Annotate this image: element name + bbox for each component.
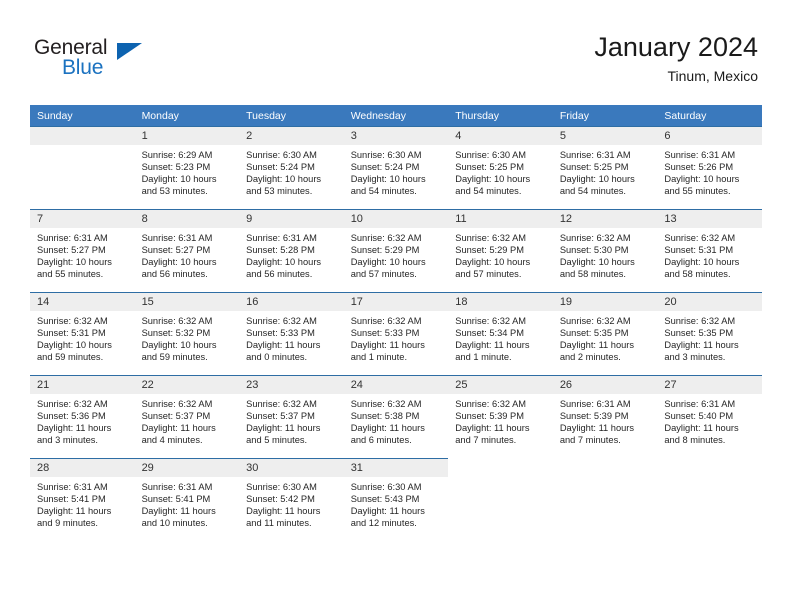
- day-details: Sunrise: 6:29 AMSunset: 5:23 PMDaylight:…: [135, 145, 240, 197]
- sunset-time: Sunset: 5:27 PM: [37, 244, 130, 256]
- daylight-duration-line-1: Daylight: 10 hours: [142, 256, 235, 268]
- sunset-time: Sunset: 5:42 PM: [246, 493, 339, 505]
- calendar-day-cell[interactable]: 25Sunrise: 6:32 AMSunset: 5:39 PMDayligh…: [448, 375, 553, 458]
- daylight-duration-line-2: and 3 minutes.: [37, 434, 130, 446]
- day-cell-inner: 14Sunrise: 6:32 AMSunset: 5:31 PMDayligh…: [30, 292, 135, 375]
- day-details: Sunrise: 6:32 AMSunset: 5:36 PMDaylight:…: [30, 394, 135, 446]
- day-details: Sunrise: 6:30 AMSunset: 5:42 PMDaylight:…: [239, 477, 344, 529]
- sunset-time: Sunset: 5:37 PM: [246, 410, 339, 422]
- day-cell-inner: 19Sunrise: 6:32 AMSunset: 5:35 PMDayligh…: [553, 292, 658, 375]
- day-cell-inner: [657, 458, 762, 541]
- daylight-duration-line-2: and 1 minute.: [351, 351, 444, 363]
- day-cell-inner: 12Sunrise: 6:32 AMSunset: 5:30 PMDayligh…: [553, 209, 658, 292]
- sunset-time: Sunset: 5:32 PM: [142, 327, 235, 339]
- day-number: 21: [30, 376, 135, 394]
- daylight-duration-line-2: and 10 minutes.: [142, 517, 235, 529]
- day-details: Sunrise: 6:30 AMSunset: 5:43 PMDaylight:…: [344, 477, 449, 529]
- calendar-day-cell[interactable]: 5Sunrise: 6:31 AMSunset: 5:25 PMDaylight…: [553, 126, 658, 209]
- calendar-week-row: 14Sunrise: 6:32 AMSunset: 5:31 PMDayligh…: [30, 292, 762, 375]
- day-details: Sunrise: 6:31 AMSunset: 5:27 PMDaylight:…: [135, 228, 240, 280]
- sunset-time: Sunset: 5:27 PM: [142, 244, 235, 256]
- daylight-duration-line-1: Daylight: 10 hours: [142, 173, 235, 185]
- sunrise-time: Sunrise: 6:32 AM: [455, 315, 548, 327]
- sunrise-time: Sunrise: 6:31 AM: [664, 398, 757, 410]
- day-details: Sunrise: 6:32 AMSunset: 5:33 PMDaylight:…: [344, 311, 449, 363]
- day-cell-inner: 22Sunrise: 6:32 AMSunset: 5:37 PMDayligh…: [135, 375, 240, 458]
- sunrise-time: Sunrise: 6:32 AM: [351, 232, 444, 244]
- calendar-day-cell[interactable]: 28Sunrise: 6:31 AMSunset: 5:41 PMDayligh…: [30, 458, 135, 541]
- day-cell-inner: 27Sunrise: 6:31 AMSunset: 5:40 PMDayligh…: [657, 375, 762, 458]
- day-details: [30, 145, 135, 149]
- daylight-duration-line-2: and 54 minutes.: [560, 185, 653, 197]
- sunset-time: Sunset: 5:28 PM: [246, 244, 339, 256]
- day-number: [30, 127, 135, 145]
- day-details: Sunrise: 6:32 AMSunset: 5:35 PMDaylight:…: [657, 311, 762, 363]
- weekday-header-wednesday: Wednesday: [344, 105, 449, 126]
- sunrise-time: Sunrise: 6:32 AM: [455, 232, 548, 244]
- daylight-duration-line-1: Daylight: 11 hours: [37, 422, 130, 434]
- day-details: Sunrise: 6:32 AMSunset: 5:38 PMDaylight:…: [344, 394, 449, 446]
- day-number: 16: [239, 293, 344, 311]
- day-number: 6: [657, 127, 762, 145]
- calendar-day-cell[interactable]: [30, 126, 135, 209]
- sunset-time: Sunset: 5:36 PM: [37, 410, 130, 422]
- day-cell-inner: [448, 458, 553, 541]
- sunset-time: Sunset: 5:39 PM: [455, 410, 548, 422]
- daylight-duration-line-1: Daylight: 10 hours: [246, 173, 339, 185]
- day-number: 25: [448, 376, 553, 394]
- day-cell-inner: 23Sunrise: 6:32 AMSunset: 5:37 PMDayligh…: [239, 375, 344, 458]
- sunrise-time: Sunrise: 6:30 AM: [351, 481, 444, 493]
- calendar-day-cell[interactable]: 23Sunrise: 6:32 AMSunset: 5:37 PMDayligh…: [239, 375, 344, 458]
- logo-text-blue: Blue: [62, 56, 103, 80]
- sunset-time: Sunset: 5:37 PM: [142, 410, 235, 422]
- sunset-time: Sunset: 5:34 PM: [455, 327, 548, 339]
- day-number: 18: [448, 293, 553, 311]
- day-cell-inner: 4Sunrise: 6:30 AMSunset: 5:25 PMDaylight…: [448, 126, 553, 209]
- sunrise-time: Sunrise: 6:32 AM: [142, 398, 235, 410]
- sunrise-time: Sunrise: 6:32 AM: [664, 232, 757, 244]
- day-number: 31: [344, 459, 449, 477]
- sunset-time: Sunset: 5:25 PM: [560, 161, 653, 173]
- daylight-duration-line-1: Daylight: 11 hours: [246, 339, 339, 351]
- calendar-day-cell[interactable]: 24Sunrise: 6:32 AMSunset: 5:38 PMDayligh…: [344, 375, 449, 458]
- day-cell-inner: 20Sunrise: 6:32 AMSunset: 5:35 PMDayligh…: [657, 292, 762, 375]
- sunset-time: Sunset: 5:29 PM: [351, 244, 444, 256]
- day-number: 4: [448, 127, 553, 145]
- day-number: 1: [135, 127, 240, 145]
- day-details: Sunrise: 6:30 AMSunset: 5:25 PMDaylight:…: [448, 145, 553, 197]
- day-details: Sunrise: 6:31 AMSunset: 5:28 PMDaylight:…: [239, 228, 344, 280]
- day-details: Sunrise: 6:31 AMSunset: 5:25 PMDaylight:…: [553, 145, 658, 197]
- day-number: 14: [30, 293, 135, 311]
- day-details: Sunrise: 6:32 AMSunset: 5:35 PMDaylight:…: [553, 311, 658, 363]
- day-cell-inner: 10Sunrise: 6:32 AMSunset: 5:29 PMDayligh…: [344, 209, 449, 292]
- daylight-duration-line-1: Daylight: 11 hours: [455, 422, 548, 434]
- weekday-header-saturday: Saturday: [657, 105, 762, 126]
- calendar-day-cell[interactable]: 20Sunrise: 6:32 AMSunset: 5:35 PMDayligh…: [657, 292, 762, 375]
- day-cell-inner: [30, 126, 135, 209]
- day-cell-inner: 17Sunrise: 6:32 AMSunset: 5:33 PMDayligh…: [344, 292, 449, 375]
- page-subtitle-location: Tinum, Mexico: [594, 66, 758, 86]
- daylight-duration-line-2: and 59 minutes.: [37, 351, 130, 363]
- sunrise-time: Sunrise: 6:31 AM: [142, 481, 235, 493]
- daylight-duration-line-2: and 2 minutes.: [560, 351, 653, 363]
- sunrise-time: Sunrise: 6:31 AM: [246, 232, 339, 244]
- day-cell-inner: [553, 458, 658, 541]
- day-number: 8: [135, 210, 240, 228]
- day-cell-inner: 28Sunrise: 6:31 AMSunset: 5:41 PMDayligh…: [30, 458, 135, 541]
- day-number: 17: [344, 293, 449, 311]
- daylight-duration-line-1: Daylight: 10 hours: [455, 256, 548, 268]
- day-number: 9: [239, 210, 344, 228]
- day-cell-inner: 6Sunrise: 6:31 AMSunset: 5:26 PMDaylight…: [657, 126, 762, 209]
- sunrise-time: Sunrise: 6:31 AM: [142, 232, 235, 244]
- daylight-duration-line-1: Daylight: 11 hours: [351, 422, 444, 434]
- day-details: Sunrise: 6:31 AMSunset: 5:40 PMDaylight:…: [657, 394, 762, 446]
- sunset-time: Sunset: 5:30 PM: [560, 244, 653, 256]
- daylight-duration-line-2: and 1 minute.: [455, 351, 548, 363]
- sunset-time: Sunset: 5:31 PM: [664, 244, 757, 256]
- calendar-day-cell[interactable]: 1Sunrise: 6:29 AMSunset: 5:23 PMDaylight…: [135, 126, 240, 209]
- daylight-duration-line-1: Daylight: 11 hours: [455, 339, 548, 351]
- calendar-day-cell[interactable]: [448, 458, 553, 541]
- day-cell-inner: 7Sunrise: 6:31 AMSunset: 5:27 PMDaylight…: [30, 209, 135, 292]
- sunset-time: Sunset: 5:24 PM: [246, 161, 339, 173]
- daylight-duration-line-1: Daylight: 10 hours: [560, 173, 653, 185]
- sunrise-time: Sunrise: 6:29 AM: [142, 149, 235, 161]
- calendar-day-cell[interactable]: 19Sunrise: 6:32 AMSunset: 5:35 PMDayligh…: [553, 292, 658, 375]
- sunrise-time: Sunrise: 6:31 AM: [664, 149, 757, 161]
- day-number: 22: [135, 376, 240, 394]
- day-number: 29: [135, 459, 240, 477]
- sunrise-time: Sunrise: 6:30 AM: [455, 149, 548, 161]
- day-details: Sunrise: 6:32 AMSunset: 5:39 PMDaylight:…: [448, 394, 553, 446]
- calendar-day-cell[interactable]: 7Sunrise: 6:31 AMSunset: 5:27 PMDaylight…: [30, 209, 135, 292]
- day-details: Sunrise: 6:32 AMSunset: 5:29 PMDaylight:…: [344, 228, 449, 280]
- title-block: January 2024 Tinum, Mexico: [594, 30, 758, 86]
- daylight-duration-line-1: Daylight: 10 hours: [455, 173, 548, 185]
- day-cell-inner: 25Sunrise: 6:32 AMSunset: 5:39 PMDayligh…: [448, 375, 553, 458]
- calendar-day-cell[interactable]: 16Sunrise: 6:32 AMSunset: 5:33 PMDayligh…: [239, 292, 344, 375]
- weekday-header-monday: Monday: [135, 105, 240, 126]
- general-blue-logo[interactable]: General Blue: [34, 36, 164, 88]
- calendar-day-cell[interactable]: 30Sunrise: 6:30 AMSunset: 5:42 PMDayligh…: [239, 458, 344, 541]
- calendar-day-cell[interactable]: 15Sunrise: 6:32 AMSunset: 5:32 PMDayligh…: [135, 292, 240, 375]
- calendar-day-cell[interactable]: [553, 458, 658, 541]
- day-number: 23: [239, 376, 344, 394]
- calendar-week-row: 7Sunrise: 6:31 AMSunset: 5:27 PMDaylight…: [30, 209, 762, 292]
- sunrise-time: Sunrise: 6:32 AM: [455, 398, 548, 410]
- daylight-duration-line-1: Daylight: 10 hours: [664, 256, 757, 268]
- daylight-duration-line-1: Daylight: 11 hours: [560, 422, 653, 434]
- sunset-time: Sunset: 5:35 PM: [664, 327, 757, 339]
- day-details: Sunrise: 6:32 AMSunset: 5:29 PMDaylight:…: [448, 228, 553, 280]
- day-cell-inner: 2Sunrise: 6:30 AMSunset: 5:24 PMDaylight…: [239, 126, 344, 209]
- sunrise-time: Sunrise: 6:31 AM: [560, 149, 653, 161]
- calendar-day-cell[interactable]: 22Sunrise: 6:32 AMSunset: 5:37 PMDayligh…: [135, 375, 240, 458]
- daylight-duration-line-2: and 55 minutes.: [37, 268, 130, 280]
- daylight-duration-line-2: and 4 minutes.: [142, 434, 235, 446]
- day-cell-inner: 29Sunrise: 6:31 AMSunset: 5:41 PMDayligh…: [135, 458, 240, 541]
- daylight-duration-line-1: Daylight: 10 hours: [37, 339, 130, 351]
- day-details: Sunrise: 6:31 AMSunset: 5:41 PMDaylight:…: [30, 477, 135, 529]
- calendar-day-cell[interactable]: 21Sunrise: 6:32 AMSunset: 5:36 PMDayligh…: [30, 375, 135, 458]
- sunset-time: Sunset: 5:26 PM: [664, 161, 757, 173]
- daylight-duration-line-2: and 58 minutes.: [560, 268, 653, 280]
- day-cell-inner: 9Sunrise: 6:31 AMSunset: 5:28 PMDaylight…: [239, 209, 344, 292]
- daylight-duration-line-1: Daylight: 10 hours: [351, 256, 444, 268]
- sunset-time: Sunset: 5:24 PM: [351, 161, 444, 173]
- daylight-duration-line-2: and 55 minutes.: [664, 185, 757, 197]
- day-number: 26: [553, 376, 658, 394]
- sunrise-time: Sunrise: 6:32 AM: [37, 398, 130, 410]
- daylight-duration-line-2: and 3 minutes.: [664, 351, 757, 363]
- sunrise-time: Sunrise: 6:32 AM: [246, 315, 339, 327]
- daylight-duration-line-2: and 7 minutes.: [455, 434, 548, 446]
- calendar-day-cell[interactable]: 8Sunrise: 6:31 AMSunset: 5:27 PMDaylight…: [135, 209, 240, 292]
- daylight-duration-line-1: Daylight: 10 hours: [560, 256, 653, 268]
- calendar-day-cell[interactable]: [657, 458, 762, 541]
- sunset-time: Sunset: 5:29 PM: [455, 244, 548, 256]
- daylight-duration-line-1: Daylight: 11 hours: [664, 422, 757, 434]
- calendar-day-cell[interactable]: 14Sunrise: 6:32 AMSunset: 5:31 PMDayligh…: [30, 292, 135, 375]
- day-cell-inner: 18Sunrise: 6:32 AMSunset: 5:34 PMDayligh…: [448, 292, 553, 375]
- sunset-time: Sunset: 5:35 PM: [560, 327, 653, 339]
- brand-triangle-icon: [117, 43, 142, 60]
- day-details: Sunrise: 6:31 AMSunset: 5:39 PMDaylight:…: [553, 394, 658, 446]
- calendar-day-cell[interactable]: 17Sunrise: 6:32 AMSunset: 5:33 PMDayligh…: [344, 292, 449, 375]
- daylight-duration-line-2: and 5 minutes.: [246, 434, 339, 446]
- day-number: 12: [553, 210, 658, 228]
- day-details: Sunrise: 6:32 AMSunset: 5:32 PMDaylight:…: [135, 311, 240, 363]
- daylight-duration-line-2: and 54 minutes.: [455, 185, 548, 197]
- calendar-day-cell[interactable]: 6Sunrise: 6:31 AMSunset: 5:26 PMDaylight…: [657, 126, 762, 209]
- daylight-duration-line-2: and 58 minutes.: [664, 268, 757, 280]
- daylight-duration-line-1: Daylight: 10 hours: [37, 256, 130, 268]
- day-number: 20: [657, 293, 762, 311]
- sunrise-time: Sunrise: 6:30 AM: [246, 149, 339, 161]
- daylight-duration-line-2: and 56 minutes.: [246, 268, 339, 280]
- day-details: Sunrise: 6:32 AMSunset: 5:33 PMDaylight:…: [239, 311, 344, 363]
- daylight-duration-line-1: Daylight: 11 hours: [351, 339, 444, 351]
- daylight-duration-line-2: and 56 minutes.: [142, 268, 235, 280]
- calendar-grid: Sunday Monday Tuesday Wednesday Thursday…: [30, 105, 762, 541]
- calendar-day-cell[interactable]: 11Sunrise: 6:32 AMSunset: 5:29 PMDayligh…: [448, 209, 553, 292]
- calendar-week-row: 1Sunrise: 6:29 AMSunset: 5:23 PMDaylight…: [30, 126, 762, 209]
- daylight-duration-line-1: Daylight: 11 hours: [246, 505, 339, 517]
- calendar-day-cell[interactable]: 31Sunrise: 6:30 AMSunset: 5:43 PMDayligh…: [344, 458, 449, 541]
- day-cell-inner: 21Sunrise: 6:32 AMSunset: 5:36 PMDayligh…: [30, 375, 135, 458]
- sunset-time: Sunset: 5:31 PM: [37, 327, 130, 339]
- day-number: 24: [344, 376, 449, 394]
- daylight-duration-line-2: and 6 minutes.: [351, 434, 444, 446]
- day-number: 10: [344, 210, 449, 228]
- day-number: 30: [239, 459, 344, 477]
- sunrise-time: Sunrise: 6:32 AM: [560, 232, 653, 244]
- sunset-time: Sunset: 5:25 PM: [455, 161, 548, 173]
- weekday-header-thursday: Thursday: [448, 105, 553, 126]
- daylight-duration-line-2: and 12 minutes.: [351, 517, 444, 529]
- day-details: Sunrise: 6:32 AMSunset: 5:37 PMDaylight:…: [135, 394, 240, 446]
- daylight-duration-line-1: Daylight: 11 hours: [142, 422, 235, 434]
- daylight-duration-line-1: Daylight: 11 hours: [142, 505, 235, 517]
- day-cell-inner: 15Sunrise: 6:32 AMSunset: 5:32 PMDayligh…: [135, 292, 240, 375]
- calendar-header-row: Sunday Monday Tuesday Wednesday Thursday…: [30, 105, 762, 126]
- day-cell-inner: 24Sunrise: 6:32 AMSunset: 5:38 PMDayligh…: [344, 375, 449, 458]
- calendar-week-row: 21Sunrise: 6:32 AMSunset: 5:36 PMDayligh…: [30, 375, 762, 458]
- sunset-time: Sunset: 5:41 PM: [142, 493, 235, 505]
- day-details: Sunrise: 6:32 AMSunset: 5:34 PMDaylight:…: [448, 311, 553, 363]
- sunrise-time: Sunrise: 6:32 AM: [560, 315, 653, 327]
- calendar-day-cell[interactable]: 26Sunrise: 6:31 AMSunset: 5:39 PMDayligh…: [553, 375, 658, 458]
- day-cell-inner: 16Sunrise: 6:32 AMSunset: 5:33 PMDayligh…: [239, 292, 344, 375]
- sunrise-time: Sunrise: 6:32 AM: [37, 315, 130, 327]
- day-cell-inner: 8Sunrise: 6:31 AMSunset: 5:27 PMDaylight…: [135, 209, 240, 292]
- daylight-duration-line-1: Daylight: 11 hours: [560, 339, 653, 351]
- calendar-day-cell[interactable]: 2Sunrise: 6:30 AMSunset: 5:24 PMDaylight…: [239, 126, 344, 209]
- page-header: General Blue January 2024 Tinum, Mexico: [34, 30, 758, 98]
- day-number: 27: [657, 376, 762, 394]
- day-details: Sunrise: 6:31 AMSunset: 5:27 PMDaylight:…: [30, 228, 135, 280]
- calendar-day-cell[interactable]: 13Sunrise: 6:32 AMSunset: 5:31 PMDayligh…: [657, 209, 762, 292]
- sunrise-time: Sunrise: 6:31 AM: [560, 398, 653, 410]
- sunrise-time: Sunrise: 6:30 AM: [351, 149, 444, 161]
- daylight-duration-line-2: and 57 minutes.: [455, 268, 548, 280]
- day-details: Sunrise: 6:32 AMSunset: 5:31 PMDaylight:…: [657, 228, 762, 280]
- calendar-week-row: 28Sunrise: 6:31 AMSunset: 5:41 PMDayligh…: [30, 458, 762, 541]
- daylight-duration-line-2: and 7 minutes.: [560, 434, 653, 446]
- calendar-day-cell[interactable]: 12Sunrise: 6:32 AMSunset: 5:30 PMDayligh…: [553, 209, 658, 292]
- daylight-duration-line-2: and 57 minutes.: [351, 268, 444, 280]
- daylight-duration-line-1: Daylight: 10 hours: [351, 173, 444, 185]
- day-cell-inner: 30Sunrise: 6:30 AMSunset: 5:42 PMDayligh…: [239, 458, 344, 541]
- day-cell-inner: 13Sunrise: 6:32 AMSunset: 5:31 PMDayligh…: [657, 209, 762, 292]
- day-number: 3: [344, 127, 449, 145]
- day-number: [448, 458, 553, 476]
- daylight-duration-line-2: and 59 minutes.: [142, 351, 235, 363]
- day-number: [553, 458, 658, 476]
- calendar-page: General Blue January 2024 Tinum, Mexico …: [0, 0, 792, 612]
- calendar-day-cell[interactable]: 3Sunrise: 6:30 AMSunset: 5:24 PMDaylight…: [344, 126, 449, 209]
- daylight-duration-line-1: Daylight: 10 hours: [246, 256, 339, 268]
- day-number: 13: [657, 210, 762, 228]
- sunset-time: Sunset: 5:41 PM: [37, 493, 130, 505]
- sunrise-time: Sunrise: 6:32 AM: [142, 315, 235, 327]
- day-cell-inner: 5Sunrise: 6:31 AMSunset: 5:25 PMDaylight…: [553, 126, 658, 209]
- sunset-time: Sunset: 5:43 PM: [351, 493, 444, 505]
- daylight-duration-line-2: and 8 minutes.: [664, 434, 757, 446]
- weekday-header-friday: Friday: [553, 105, 658, 126]
- daylight-duration-line-1: Daylight: 11 hours: [246, 422, 339, 434]
- daylight-duration-line-1: Daylight: 10 hours: [664, 173, 757, 185]
- daylight-duration-line-2: and 0 minutes.: [246, 351, 339, 363]
- day-cell-inner: 11Sunrise: 6:32 AMSunset: 5:29 PMDayligh…: [448, 209, 553, 292]
- day-number: 19: [553, 293, 658, 311]
- sunset-time: Sunset: 5:38 PM: [351, 410, 444, 422]
- day-cell-inner: 3Sunrise: 6:30 AMSunset: 5:24 PMDaylight…: [344, 126, 449, 209]
- sunrise-time: Sunrise: 6:32 AM: [664, 315, 757, 327]
- calendar-day-cell[interactable]: 10Sunrise: 6:32 AMSunset: 5:29 PMDayligh…: [344, 209, 449, 292]
- daylight-duration-line-1: Daylight: 11 hours: [37, 505, 130, 517]
- day-number: 2: [239, 127, 344, 145]
- calendar-day-cell[interactable]: 9Sunrise: 6:31 AMSunset: 5:28 PMDaylight…: [239, 209, 344, 292]
- calendar-day-cell[interactable]: 29Sunrise: 6:31 AMSunset: 5:41 PMDayligh…: [135, 458, 240, 541]
- daylight-duration-line-1: Daylight: 11 hours: [351, 505, 444, 517]
- day-details: Sunrise: 6:32 AMSunset: 5:31 PMDaylight:…: [30, 311, 135, 363]
- day-details: Sunrise: 6:31 AMSunset: 5:41 PMDaylight:…: [135, 477, 240, 529]
- calendar-body: 1Sunrise: 6:29 AMSunset: 5:23 PMDaylight…: [30, 126, 762, 541]
- sunrise-time: Sunrise: 6:31 AM: [37, 232, 130, 244]
- weekday-header-tuesday: Tuesday: [239, 105, 344, 126]
- day-number: 5: [553, 127, 658, 145]
- day-number: 11: [448, 210, 553, 228]
- sunrise-time: Sunrise: 6:31 AM: [37, 481, 130, 493]
- page-title: January 2024: [594, 30, 758, 64]
- daylight-duration-line-2: and 53 minutes.: [246, 185, 339, 197]
- sunset-time: Sunset: 5:33 PM: [351, 327, 444, 339]
- sunset-time: Sunset: 5:23 PM: [142, 161, 235, 173]
- weekday-header-sunday: Sunday: [30, 105, 135, 126]
- daylight-duration-line-1: Daylight: 11 hours: [664, 339, 757, 351]
- day-number: 28: [30, 459, 135, 477]
- sunrise-time: Sunrise: 6:32 AM: [351, 315, 444, 327]
- day-details: Sunrise: 6:32 AMSunset: 5:30 PMDaylight:…: [553, 228, 658, 280]
- daylight-duration-line-2: and 9 minutes.: [37, 517, 130, 529]
- day-details: Sunrise: 6:30 AMSunset: 5:24 PMDaylight:…: [344, 145, 449, 197]
- daylight-duration-line-1: Daylight: 10 hours: [142, 339, 235, 351]
- day-number: 15: [135, 293, 240, 311]
- sunrise-time: Sunrise: 6:32 AM: [351, 398, 444, 410]
- day-details: Sunrise: 6:31 AMSunset: 5:26 PMDaylight:…: [657, 145, 762, 197]
- sunset-time: Sunset: 5:39 PM: [560, 410, 653, 422]
- day-cell-inner: 26Sunrise: 6:31 AMSunset: 5:39 PMDayligh…: [553, 375, 658, 458]
- daylight-duration-line-2: and 11 minutes.: [246, 517, 339, 529]
- day-number: 7: [30, 210, 135, 228]
- calendar-day-cell[interactable]: 18Sunrise: 6:32 AMSunset: 5:34 PMDayligh…: [448, 292, 553, 375]
- calendar-day-cell[interactable]: 27Sunrise: 6:31 AMSunset: 5:40 PMDayligh…: [657, 375, 762, 458]
- day-cell-inner: 1Sunrise: 6:29 AMSunset: 5:23 PMDaylight…: [135, 126, 240, 209]
- day-number: [657, 458, 762, 476]
- calendar-day-cell[interactable]: 4Sunrise: 6:30 AMSunset: 5:25 PMDaylight…: [448, 126, 553, 209]
- day-cell-inner: 31Sunrise: 6:30 AMSunset: 5:43 PMDayligh…: [344, 458, 449, 541]
- sunset-time: Sunset: 5:33 PM: [246, 327, 339, 339]
- daylight-duration-line-2: and 54 minutes.: [351, 185, 444, 197]
- day-details: Sunrise: 6:30 AMSunset: 5:24 PMDaylight:…: [239, 145, 344, 197]
- day-details: Sunrise: 6:32 AMSunset: 5:37 PMDaylight:…: [239, 394, 344, 446]
- daylight-duration-line-2: and 53 minutes.: [142, 185, 235, 197]
- sunrise-time: Sunrise: 6:32 AM: [246, 398, 339, 410]
- sunrise-time: Sunrise: 6:30 AM: [246, 481, 339, 493]
- sunset-time: Sunset: 5:40 PM: [664, 410, 757, 422]
